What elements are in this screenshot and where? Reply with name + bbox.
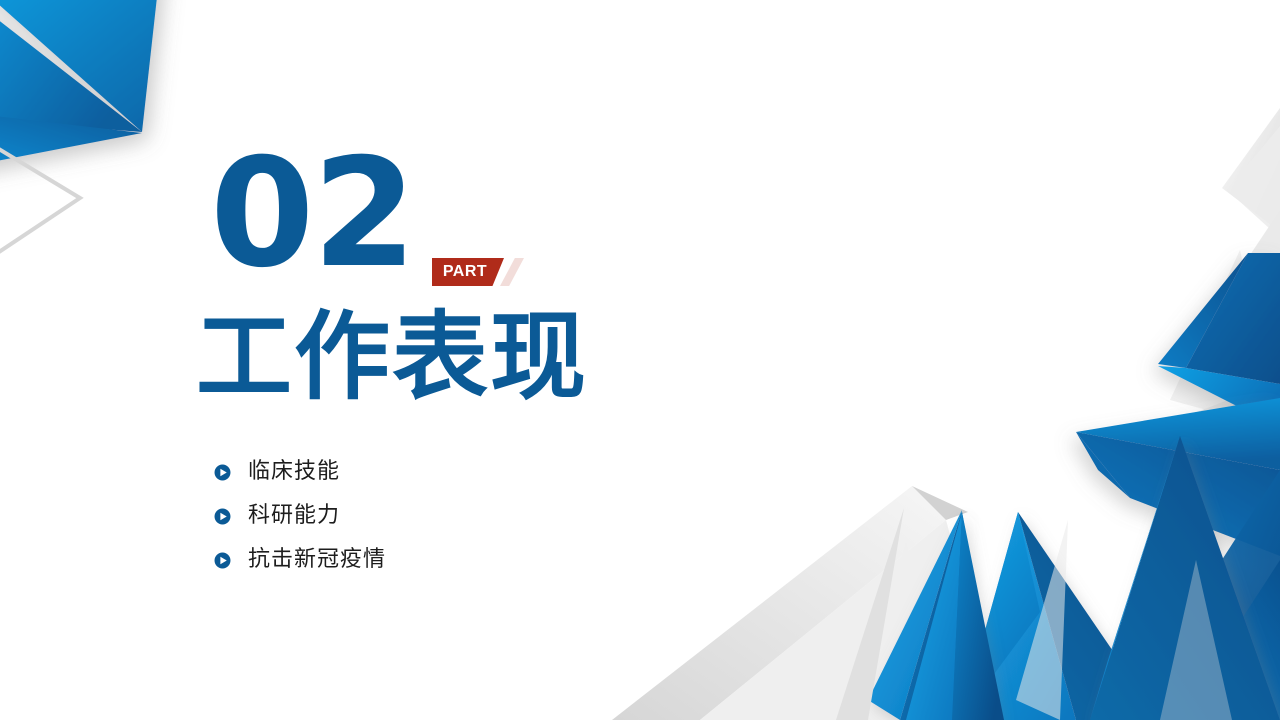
part-badge-sliver — [500, 258, 524, 286]
list-item[interactable]: 抗击新冠疫情 — [214, 538, 634, 582]
presentation-slide: 02 PART 工作表现 临床技能 科研能力 — [0, 0, 1280, 720]
play-circle-icon — [214, 508, 231, 525]
list-item-label: 科研能力 — [248, 505, 340, 527]
play-circle-icon — [214, 552, 231, 569]
section-number: 02 — [210, 139, 415, 289]
list-item-label: 临床技能 — [248, 461, 340, 483]
list-item-label: 抗击新冠疫情 — [248, 549, 386, 571]
part-badge: PART — [432, 258, 504, 286]
slide-content: 02 PART 工作表现 临床技能 科研能力 — [0, 0, 1280, 720]
bullet-list: 临床技能 科研能力 抗击新冠疫情 — [214, 450, 634, 582]
list-item[interactable]: 临床技能 — [214, 450, 634, 494]
page-title: 工作表现 — [196, 302, 588, 412]
play-circle-icon — [214, 464, 231, 481]
list-item[interactable]: 科研能力 — [214, 494, 634, 538]
